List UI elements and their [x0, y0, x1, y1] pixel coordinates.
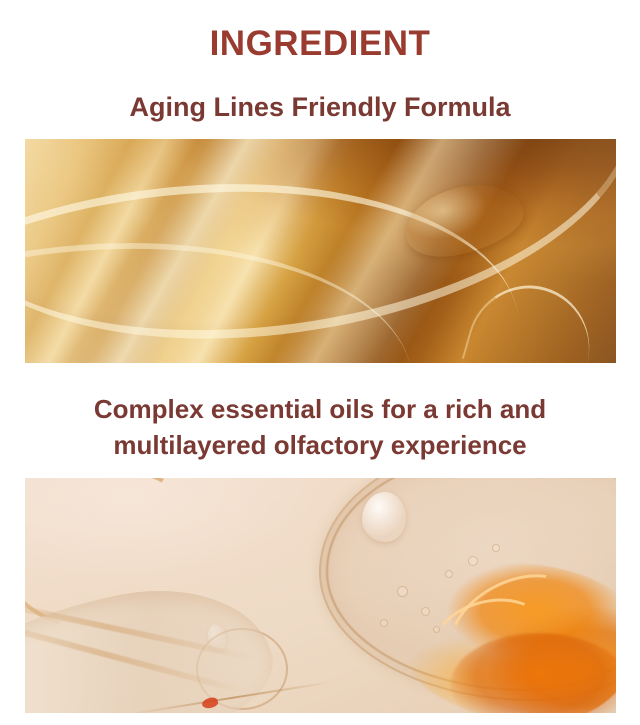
white-droplet — [362, 492, 406, 542]
oil-gloss-overlay — [25, 139, 616, 363]
ingredient-photo-top: White Pond Flower Seed Oil — [25, 139, 616, 363]
middle-heading-line-2: multilayered olfactory experience — [20, 427, 620, 463]
middle-heading-line-1: Complex essential oils for a rich and — [94, 394, 546, 424]
oil-bubble — [380, 619, 388, 627]
oil-bubble — [468, 556, 478, 566]
oil-bubble — [492, 544, 500, 552]
ingredient-photo-bottom: Osmanthus fragrans extract Jasmine oil R… — [25, 478, 616, 713]
ingredient-infographic: INGREDIENT Aging Lines Friendly Formula … — [0, 0, 640, 725]
middle-heading: Complex essential oils for a rich and mu… — [20, 391, 620, 463]
page-subtitle: Aging Lines Friendly Formula — [0, 92, 640, 123]
page-title: INGREDIENT — [0, 24, 640, 64]
